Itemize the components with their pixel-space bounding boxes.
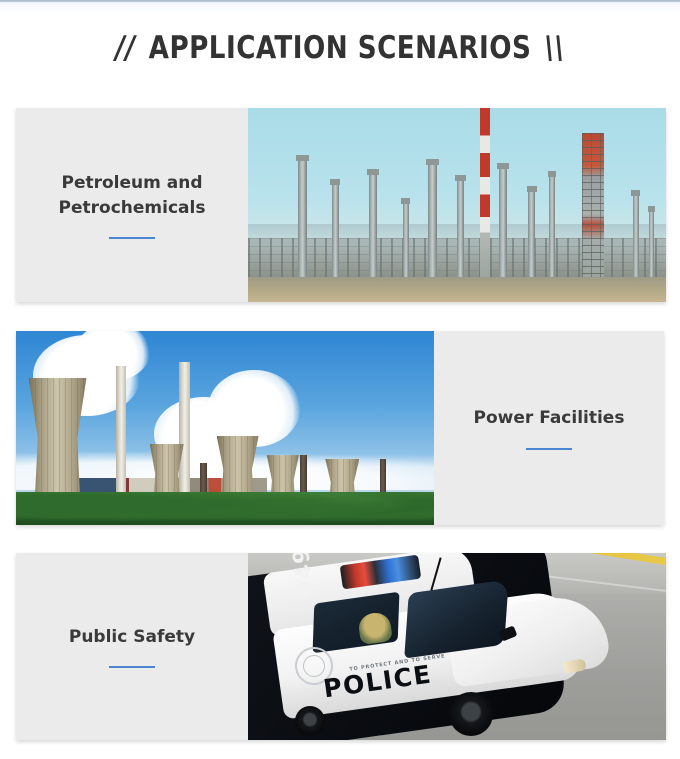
top-divider-fade: [0, 3, 680, 13]
distillation-column: [332, 184, 339, 281]
card-text-panel: Public Safety: [16, 553, 248, 740]
distillation-column: [298, 160, 307, 280]
page-title: //APPLICATION SCENARIOS\\: [20, 30, 659, 66]
police-vehicle-photo: 949 TO PROTECT AND TO SERVE POLICE: [248, 553, 666, 740]
distillation-column: [633, 195, 639, 280]
distillation-column: [649, 211, 654, 281]
slash-left-decoration: //: [115, 30, 135, 66]
cooling-tower: [29, 378, 87, 510]
card-title: Petroleum and Petrochemicals: [16, 171, 248, 220]
vehicle-wheel-rear: [295, 706, 325, 736]
chimney-stack: [116, 366, 126, 510]
distillation-column: [499, 168, 507, 281]
scenario-card-public-safety[interactable]: Public Safety 949 TO PROTECT AND TO SERV…: [16, 553, 666, 740]
scaffolded-tower: [582, 133, 604, 280]
distillation-column: [549, 176, 555, 281]
card-title: Power Facilities: [464, 406, 635, 431]
distillation-column: [428, 164, 437, 280]
police-suv: 949 TO PROTECT AND TO SERVE POLICE: [248, 553, 607, 740]
treeline: [16, 492, 434, 525]
chimney-stack: [179, 362, 190, 509]
striped-smokestack: [480, 108, 490, 281]
card-text-panel: Petroleum and Petrochemicals: [16, 108, 248, 302]
steam-plume: [208, 370, 300, 448]
card-text-panel: Power Facilities: [434, 331, 664, 525]
distillation-column: [528, 191, 535, 280]
vehicle-roof-number: 949: [289, 553, 321, 597]
distillation-column: [457, 180, 464, 281]
scenario-card-power[interactable]: Power Facilities: [16, 331, 664, 525]
card-accent-rule: [109, 666, 155, 668]
card-title: Public Safety: [59, 625, 205, 650]
distillation-column: [369, 174, 377, 281]
vehicle-wheel-front: [449, 692, 493, 736]
card-accent-rule: [526, 448, 572, 450]
power-plant-photo: [16, 331, 434, 525]
scenario-card-petroleum[interactable]: Petroleum and Petrochemicals: [16, 108, 666, 302]
card-accent-rule: [109, 237, 155, 239]
refinery-ground: [248, 277, 666, 302]
slash-right-decoration: \\: [544, 30, 564, 66]
page-title-text: APPLICATION SCENARIOS: [149, 30, 532, 66]
distillation-column: [403, 203, 409, 281]
oil-refinery-photo: [248, 108, 666, 302]
